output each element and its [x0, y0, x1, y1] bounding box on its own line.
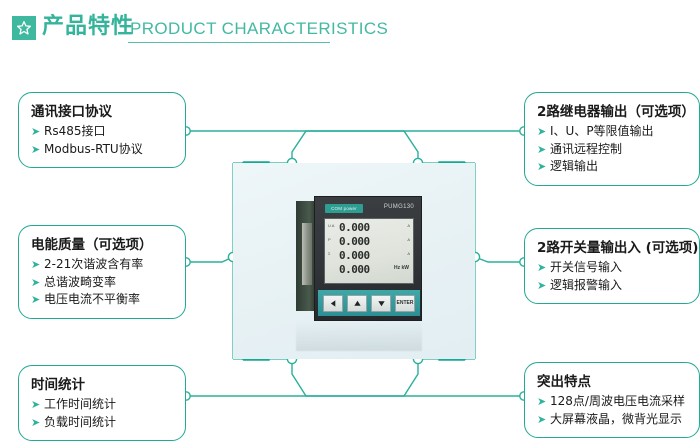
feature-title: 电能质量（可选项）	[31, 235, 175, 255]
feature-box-highlights[interactable]: 突出特点 ➤128点/周波电压电流采样 ➤大屏幕液晶，微背光显示	[524, 362, 700, 438]
list-item: ➤逻辑报警输入	[537, 277, 689, 295]
bullet-arrow-icon: ➤	[31, 123, 40, 141]
bullet-arrow-icon: ➤	[537, 259, 546, 277]
lcd-left-tag-2: P	[328, 237, 331, 242]
bullet-arrow-icon: ➤	[31, 141, 40, 159]
bullet-arrow-icon: ➤	[537, 123, 546, 141]
bullet-arrow-icon: ➤	[537, 393, 546, 411]
lcd-right-tag-3: A	[407, 251, 410, 256]
bullet-arrow-icon: ➤	[31, 256, 40, 274]
feature-title: 通讯接口协议	[31, 102, 175, 122]
list-item-label: 128点/周波电压电流采样	[550, 394, 685, 408]
device-up-arrow-button[interactable]	[347, 295, 367, 312]
feature-list: ➤Rs485接口 ➤Modbus-RTU协议	[31, 123, 175, 158]
feature-box-time-statistics[interactable]: 时间统计 ➤工作时间统计 ➤负载时间统计	[18, 365, 186, 441]
feature-list: ➤2-21次谐波含有率 ➤总谐波畸变率 ➤电压电流不平衡率	[31, 256, 175, 309]
device-brand-logo: COM power	[325, 204, 363, 213]
list-item: ➤总谐波畸变率	[31, 274, 175, 292]
lcd-value-row-4: 0.000	[339, 263, 401, 276]
feature-box-power-quality[interactable]: 电能质量（可选项） ➤2-21次谐波含有率 ➤总谐波畸变率 ➤电压电流不平衡率	[18, 225, 186, 319]
bullet-arrow-icon: ➤	[537, 158, 546, 176]
device-enter-button[interactable]: ENTER	[395, 295, 415, 312]
bullet-arrow-icon: ➤	[537, 277, 546, 295]
list-item-label: 通讯远程控制	[550, 142, 622, 156]
feature-box-switch-io[interactable]: 2路开关量输出入 (可选项) ➤开关信号输入 ➤逻辑报警输入	[524, 228, 700, 304]
lcd-right-tag-1: A	[407, 223, 410, 228]
feature-box-communication[interactable]: 通讯接口协议 ➤Rs485接口 ➤Modbus-RTU协议	[18, 92, 186, 168]
device-down-arrow-button[interactable]	[371, 295, 391, 312]
device-model-label: PUMG130	[384, 204, 414, 210]
list-item-label: 2-21次谐波含有率	[44, 257, 143, 271]
list-item: ➤逻辑输出	[537, 158, 689, 176]
bullet-arrow-icon: ➤	[31, 291, 40, 309]
bullet-arrow-icon: ➤	[537, 411, 546, 429]
bullet-arrow-icon: ➤	[31, 274, 40, 292]
list-item-label: 电压电流不平衡率	[44, 292, 140, 306]
feature-box-relay-output[interactable]: 2路继电器输出（可选项） ➤I、U、P等限值输出 ➤通讯远程控制 ➤逻辑输出	[524, 92, 700, 186]
list-item: ➤开关信号输入	[537, 259, 689, 277]
device-reflection	[296, 321, 422, 351]
lcd-left-tag-3: Σ	[328, 251, 330, 256]
device-front-panel: COM power PUMG130 U A P Σ A A A 0.000 0.…	[314, 196, 422, 321]
device-left-arrow-button[interactable]	[323, 295, 343, 312]
feature-list: ➤128点/周波电压电流采样 ➤大屏幕液晶，微背光显示	[537, 393, 689, 428]
feature-list: ➤工作时间统计 ➤负载时间统计	[31, 396, 175, 431]
list-item: ➤2-21次谐波含有率	[31, 256, 175, 274]
list-item: ➤工作时间统计	[31, 396, 175, 414]
list-item-label: 开关信号输入	[550, 260, 622, 274]
bullet-arrow-icon: ➤	[31, 414, 40, 432]
bullet-arrow-icon: ➤	[31, 396, 40, 414]
list-item-label: 负载时间统计	[44, 415, 116, 429]
feature-list: ➤开关信号输入 ➤逻辑报警输入	[537, 259, 689, 294]
lcd-left-tag-1: U A	[328, 223, 334, 228]
list-item: ➤I、U、P等限值输出	[537, 123, 689, 141]
lcd-unit-label: Hz kW	[394, 265, 409, 271]
list-item-label: I、U、P等限值输出	[550, 124, 654, 138]
feature-title: 2路开关量输出入 (可选项)	[537, 238, 689, 258]
feature-list: ➤I、U、P等限值输出 ➤通讯远程控制 ➤逻辑输出	[537, 123, 689, 176]
list-item-label: Modbus-RTU协议	[44, 142, 143, 156]
list-item-label: 工作时间统计	[44, 397, 116, 411]
lcd-value-row-1: 0.000	[339, 221, 401, 234]
list-item: ➤大屏幕液晶，微背光显示	[537, 411, 689, 429]
list-item: ➤Modbus-RTU协议	[31, 141, 175, 159]
list-item: ➤电压电流不平衡率	[31, 291, 175, 309]
device-lcd-screen: U A P Σ A A A 0.000 0.000 0.000 0.000 Hz…	[324, 218, 414, 284]
device-button-bar: ENTER	[318, 290, 420, 316]
feature-title: 2路继电器输出（可选项）	[537, 102, 689, 122]
feature-title: 时间统计	[31, 375, 175, 395]
list-item: ➤128点/周波电压电流采样	[537, 393, 689, 411]
list-item-label: 总谐波畸变率	[44, 275, 116, 289]
lcd-value-row-2: 0.000	[339, 235, 401, 248]
list-item: ➤负载时间统计	[31, 414, 175, 432]
list-item-label: 逻辑报警输入	[550, 278, 622, 292]
list-item-label: 大屏幕液晶，微背光显示	[550, 412, 682, 426]
feature-title: 突出特点	[537, 372, 689, 392]
list-item-label: Rs485接口	[44, 124, 106, 138]
list-item-label: 逻辑输出	[550, 159, 598, 173]
list-item: ➤通讯远程控制	[537, 141, 689, 159]
lcd-right-tag-2: A	[407, 237, 410, 242]
product-device-image: COM power PUMG130 U A P Σ A A A 0.000 0.…	[296, 196, 422, 321]
list-item: ➤Rs485接口	[31, 123, 175, 141]
product-characteristics-page: 产品特性 PRODUCT CHARACTERISTICS	[0, 0, 700, 442]
lcd-value-row-3: 0.000	[339, 249, 401, 262]
bullet-arrow-icon: ➤	[537, 141, 546, 159]
